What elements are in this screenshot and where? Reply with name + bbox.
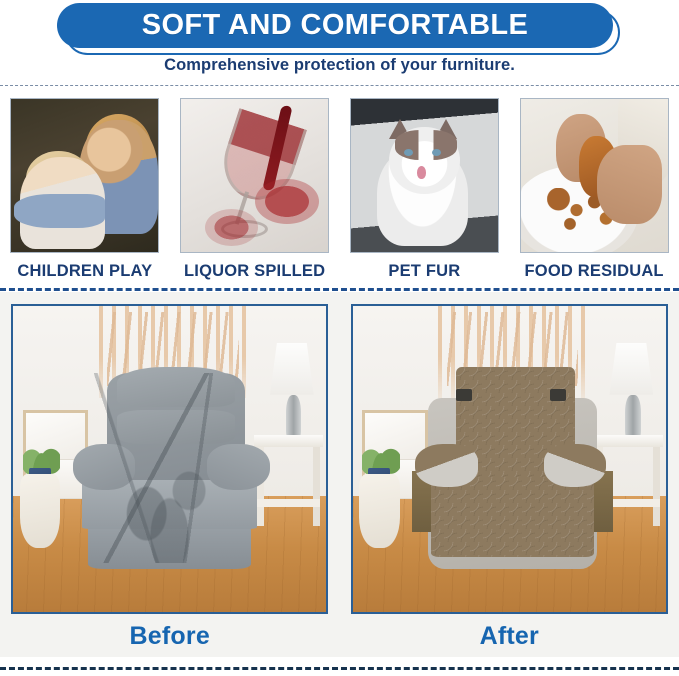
feature-image-children-play [10, 98, 159, 253]
feature-item-children-play: CHILDREN PLAY [0, 92, 170, 284]
feature-image-food-residual [520, 98, 669, 253]
banner-fill-shape: SOFT AND COMFORTABLE [57, 3, 613, 48]
comparison-caption-after: After [480, 622, 539, 651]
feature-item-pet-fur: PET FUR [340, 92, 510, 284]
comparison-image-before [11, 304, 328, 614]
top-dashed-divider [0, 85, 679, 86]
before-after-section: Before [0, 292, 679, 657]
banner: SOFT AND COMFORTABLE [57, 3, 622, 55]
comparison-image-after [351, 304, 668, 614]
feature-image-liquor-spilled [180, 98, 329, 253]
comparison-panel-before: Before [0, 292, 340, 657]
banner-title: SOFT AND COMFORTABLE [142, 11, 529, 40]
comparison-panel-after: After [340, 292, 679, 657]
header-subtitle: Comprehensive protection of your furnitu… [0, 56, 679, 75]
feature-item-liquor-spilled: LIQUOR SPILLED [170, 92, 340, 284]
feature-image-pet-fur [350, 98, 499, 253]
bottom-dashed-divider [0, 667, 679, 670]
feature-label-liquor-spilled: LIQUOR SPILLED [184, 262, 325, 281]
feature-label-food-residual: FOOD RESIDUAL [525, 262, 664, 281]
comparison-caption-before: Before [130, 622, 210, 651]
feature-thumbnail-strip: CHILDREN PLAY LIQUOR SPILLED [0, 92, 679, 284]
feature-label-children-play: CHILDREN PLAY [17, 262, 152, 281]
header-section: SOFT AND COMFORTABLE Comprehensive prote… [0, 0, 679, 86]
feature-item-food-residual: FOOD RESIDUAL [509, 92, 679, 284]
feature-label-pet-fur: PET FUR [388, 262, 460, 281]
middle-dashed-divider [0, 288, 679, 291]
